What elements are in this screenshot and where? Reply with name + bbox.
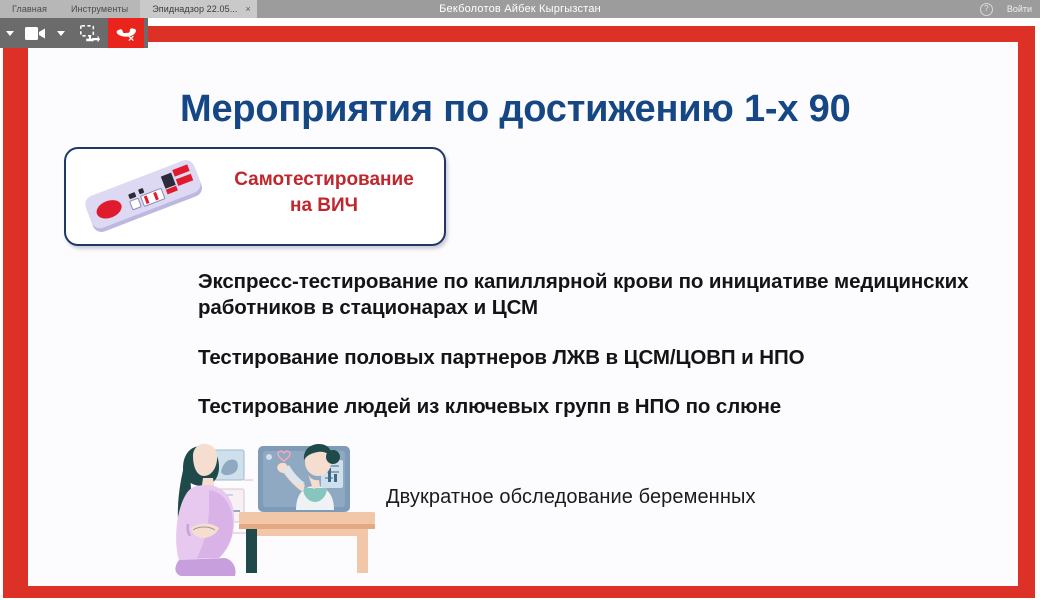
camera-options-chevron[interactable] [50, 18, 72, 48]
share-screen-icon [80, 25, 100, 42]
video-camera-icon [25, 27, 45, 40]
meeting-bar-actions: ? Войти [980, 0, 1032, 18]
pregnant-woman-doctor-illustration [133, 432, 378, 578]
chevron-down-icon [57, 31, 65, 36]
hiv-rapid-test-kit-icon [74, 151, 214, 243]
tab-epidnadzor[interactable]: Эпиднадзор 22.05... × [140, 0, 257, 18]
sign-in-button[interactable]: Войти [1007, 4, 1032, 14]
tab-label: Главная [12, 4, 47, 14]
bullet-list: Экспресс-тестирование по капиллярной кро… [198, 269, 998, 442]
tab-glavnaya[interactable]: Главная [0, 0, 59, 18]
slide-frame: Мероприятия по достижению 1-х 90 [3, 26, 1035, 598]
slide-title: Мероприятия по достижению 1-х 90 [180, 88, 960, 131]
bullet-item: Тестирование половых партнеров ЛЖВ в ЦСМ… [198, 345, 998, 371]
hang-up-button[interactable] [108, 18, 144, 48]
hangup-phone-icon [116, 24, 136, 42]
self-testing-line-2: на ВИЧ [214, 193, 434, 219]
audio-options-chevron[interactable] [0, 18, 20, 48]
self-testing-line-1: Самотестирование [214, 167, 434, 193]
tab-strip: Главная Инструменты Эпиднадзор 22.05... … [0, 0, 238, 18]
call-toolbar [0, 18, 148, 48]
close-icon[interactable]: × [246, 5, 251, 14]
self-testing-card-label: Самотестирование на ВИЧ [214, 167, 434, 218]
application-window: Бекболотов Айбек Кыргызстан ? Войти Глав… [0, 0, 1040, 600]
tab-label: Инструменты [71, 4, 128, 14]
bullet-item: Тестирование людей из ключевых групп в Н… [198, 394, 998, 420]
bullet-item: Экспресс-тестирование по капиллярной кро… [198, 269, 998, 321]
tab-instrumenty[interactable]: Инструменты [59, 0, 140, 18]
chevron-down-icon [6, 31, 14, 36]
tab-label: Эпиднадзор 22.05... [152, 4, 237, 14]
presentation-slide: Мероприятия по достижению 1-х 90 [28, 42, 1018, 586]
camera-toggle-button[interactable] [20, 18, 50, 48]
help-icon[interactable]: ? [980, 3, 993, 16]
share-screen-button[interactable] [72, 18, 108, 48]
pregnancy-screening-text: Двукратное обследование беременных [386, 486, 756, 509]
self-testing-card: Самотестирование на ВИЧ [64, 147, 446, 246]
